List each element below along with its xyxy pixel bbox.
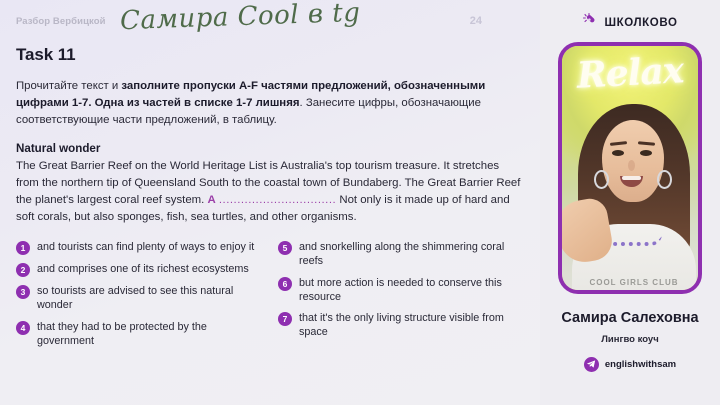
presenter-role: Лингво коуч: [601, 334, 658, 345]
telegram-icon: [584, 357, 599, 372]
option-badge: 5: [278, 241, 292, 255]
page-title: Task 11: [16, 45, 524, 65]
option-badge: 4: [16, 321, 30, 335]
page-number: 24: [470, 15, 482, 27]
presenter-teeth: [622, 176, 641, 180]
list-item[interactable]: 4 that they had to be protected by the g…: [16, 320, 262, 349]
instructions-lead: Прочитайте текст и: [16, 80, 121, 92]
video-frame: Relax COOL GIRLS CLUB: [562, 46, 698, 290]
presenter-sidebar: ШКОЛКОВО Relax COOL GIRLS CLUB: [540, 0, 720, 405]
neon-sign-text: Relax: [561, 48, 699, 97]
presenter-necklace: [604, 234, 662, 246]
telegram-link[interactable]: englishwithsam: [584, 357, 676, 372]
option-text: and snorkelling along the shimmering cor…: [299, 240, 524, 269]
option-text: and tourists can find plenty of ways to …: [37, 240, 254, 254]
task-instructions: Прочитайте текст и заполните пропуски A-…: [16, 78, 516, 129]
presenter-name: Самира Салеховна: [561, 310, 698, 328]
option-text: so tourists are advised to see this natu…: [37, 284, 262, 313]
option-text: and comprises one of its richest ecosyst…: [37, 262, 249, 276]
options-column-right: 5 and snorkelling along the shimmering c…: [278, 240, 524, 355]
option-text: that it's the only living structure visi…: [299, 311, 524, 340]
gap-letter-a: A: [207, 194, 215, 206]
passage-body: The Great Barrier Reef on the World Heri…: [16, 158, 524, 226]
gap-dotted-line: ................................: [219, 194, 336, 206]
slide-header: Разбор Вербицкой Самира Cool в tg 24: [16, 10, 524, 42]
telegram-handle: englishwithsam: [605, 359, 676, 370]
option-text: that they had to be protected by the gov…: [37, 320, 262, 349]
presenter-earring-left: [594, 170, 609, 189]
option-badge: 1: [16, 241, 30, 255]
option-badge: 2: [16, 263, 30, 277]
list-item[interactable]: 2 and comprises one of its richest ecosy…: [16, 262, 262, 277]
list-item[interactable]: 1 and tourists can find plenty of ways t…: [16, 240, 262, 255]
slide-root: Разбор Вербицкой Самира Cool в tg 24 Tas…: [0, 0, 720, 405]
option-badge: 7: [278, 312, 292, 326]
presenter-eye-left: [612, 150, 624, 156]
answer-options: 1 and tourists can find plenty of ways t…: [16, 240, 524, 355]
presenter-eye-right: [640, 150, 652, 156]
passage-title: Natural wonder: [16, 142, 524, 155]
option-badge: 3: [16, 285, 30, 299]
list-item[interactable]: 3 so tourists are advised to see this na…: [16, 284, 262, 313]
brand-name: ШКОЛКОВО: [604, 17, 677, 29]
presenter-earring-right: [657, 170, 672, 189]
list-item[interactable]: 6 but more action is needed to conserve …: [278, 276, 524, 305]
brand-logo: ШКОЛКОВО: [582, 12, 677, 33]
slide-content-panel: Разбор Вербицкой Самира Cool в tg 24 Tas…: [0, 0, 540, 405]
option-text: but more action is needed to conserve th…: [299, 276, 524, 305]
shirt-text: COOL GIRLS CLUB: [572, 278, 696, 287]
list-item[interactable]: 7 that it's the only living structure vi…: [278, 311, 524, 340]
presenter-nose: [628, 160, 635, 171]
option-badge: 6: [278, 277, 292, 291]
handwritten-note: Самира Cool в tg: [120, 0, 361, 36]
course-kicker: Разбор Вербицкой: [16, 16, 106, 27]
sparkle-icon: [582, 12, 598, 33]
list-item[interactable]: 5 and snorkelling along the shimmering c…: [278, 240, 524, 269]
options-column-left: 1 and tourists can find plenty of ways t…: [16, 240, 262, 355]
presenter-video[interactable]: Relax COOL GIRLS CLUB: [558, 42, 702, 294]
